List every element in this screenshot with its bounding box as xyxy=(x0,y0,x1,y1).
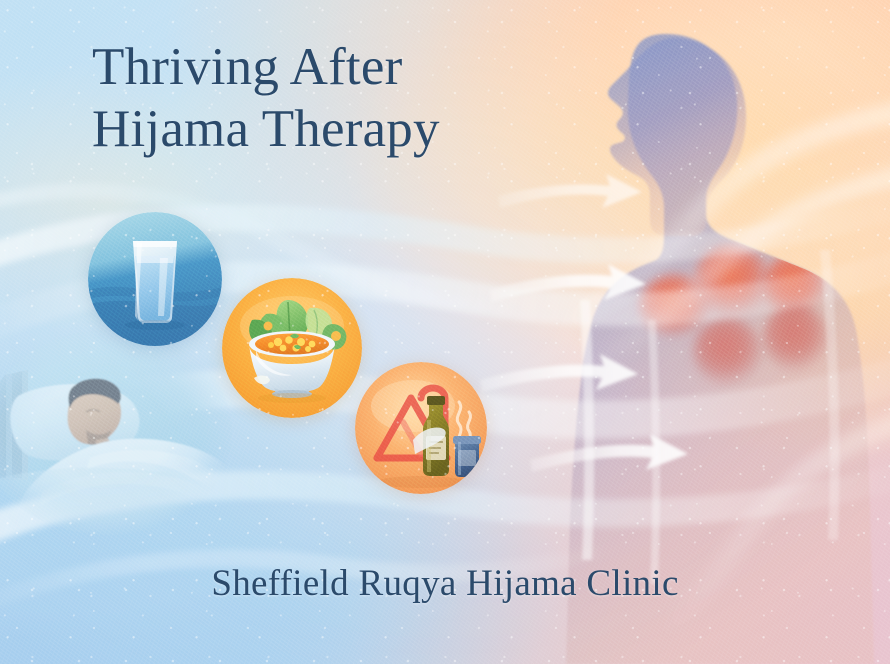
hydration-water-glass-circle xyxy=(88,212,222,346)
energy-streak xyxy=(820,250,840,540)
flow-arrow xyxy=(530,434,688,472)
water-glass-icon xyxy=(133,241,177,323)
flow-arrow xyxy=(480,354,638,392)
page-title: Thriving After Hijama Therapy xyxy=(92,36,572,160)
resting-sleeping-man xyxy=(0,330,232,535)
avoid-substances-circle xyxy=(355,362,487,494)
nourishing-soup-bowl-circle xyxy=(222,278,362,418)
clinic-name: Sheffield Ruqya Hijama Clinic xyxy=(0,562,890,606)
flow-arrow xyxy=(490,264,646,302)
poster-canvas: Thriving After Hijama Therapy Sheffield … xyxy=(0,0,890,664)
energy-streak xyxy=(580,300,594,560)
flow-arrow xyxy=(498,174,642,208)
